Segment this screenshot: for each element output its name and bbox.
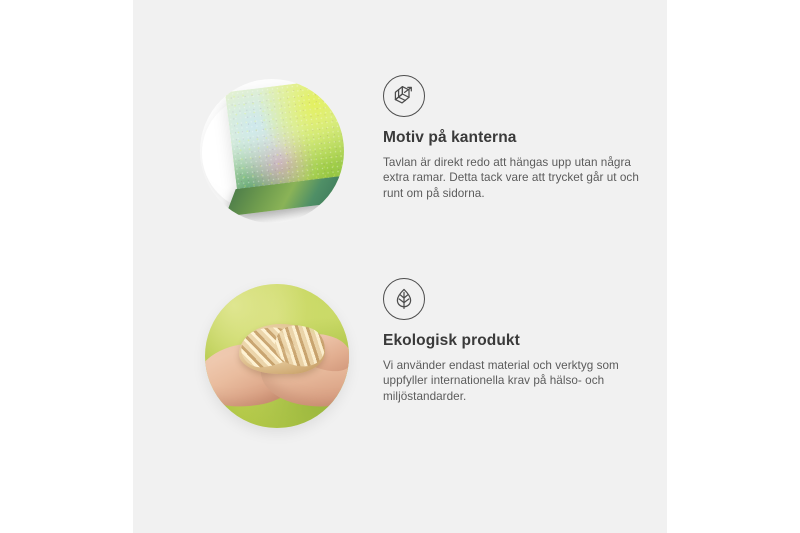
leaf-glyph	[391, 286, 417, 312]
feature-one-title: Motiv på kanterna	[383, 129, 653, 148]
canvas-print-corner-photo	[200, 79, 344, 223]
feature-block-motiv-pa-kanterna: Motiv på kanterna Tavlan är direkt redo …	[133, 75, 667, 255]
product-feature-banner: Motiv på kanterna Tavlan är direkt redo …	[0, 0, 800, 533]
canvas-wrapped-edges-glyph	[391, 83, 417, 109]
feature-one-body: Tavlan är direkt redo att hängas upp uta…	[383, 155, 645, 202]
feature-one-copy: Motiv på kanterna Tavlan är direkt redo …	[383, 75, 653, 202]
feature-two-body: Vi använder endast material och verktyg …	[383, 358, 645, 405]
hands-holding-wood-chips-photo	[205, 284, 349, 428]
wood-chips-pile	[239, 324, 325, 374]
feature-two-copy: Ekologisk produkt Vi använder endast mat…	[383, 278, 653, 405]
content-panel: Motiv på kanterna Tavlan är direkt redo …	[133, 0, 667, 533]
feature-block-ekologisk-produkt: Ekologisk produkt Vi använder endast mat…	[133, 278, 667, 438]
feature-two-title: Ekologisk produkt	[383, 332, 653, 351]
canvas-wrapped-edges-icon	[383, 75, 425, 117]
leaf-icon	[383, 278, 425, 320]
